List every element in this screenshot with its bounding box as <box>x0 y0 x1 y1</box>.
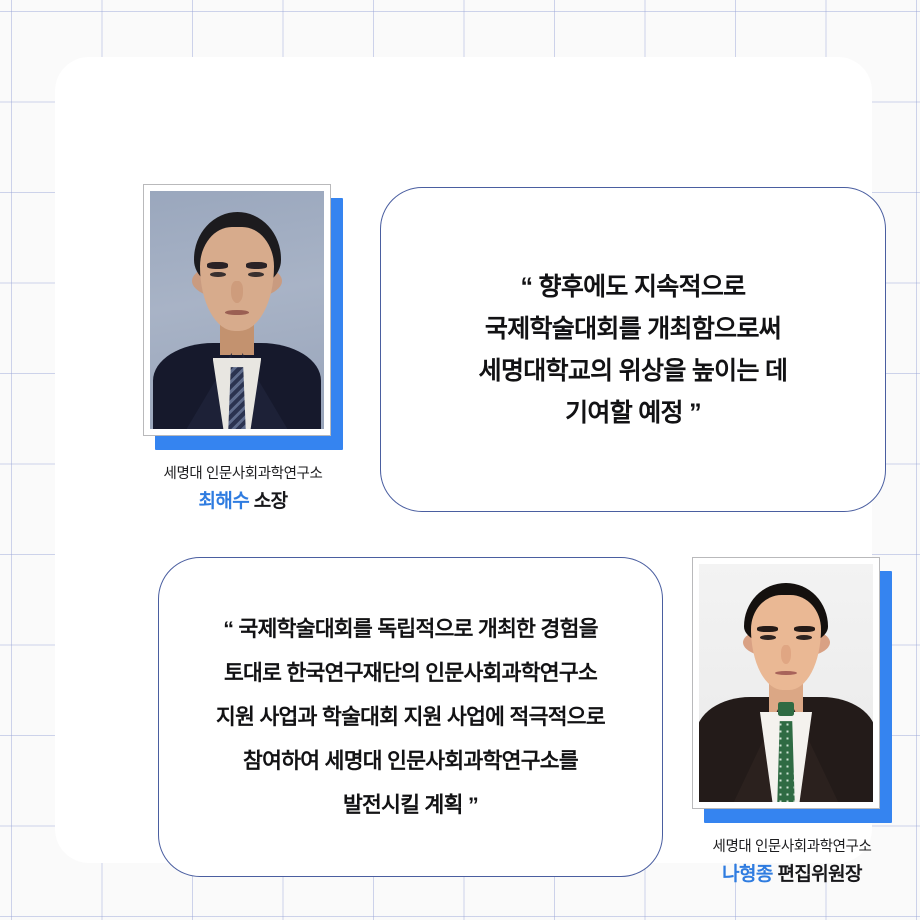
person-caption-na: 세명대 인문사회과학연구소 나형종 편집위원장 <box>692 838 892 886</box>
person-title: 소장 <box>254 491 288 512</box>
portrait-photo-na <box>699 564 873 802</box>
portrait-photo-choi <box>150 191 324 429</box>
person-name: 최해수 <box>198 491 249 512</box>
person-org: 세명대 인문사회과학연구소 <box>692 838 892 856</box>
portrait-illustration <box>699 564 873 802</box>
person-name-title: 나형종 편집위원장 <box>692 859 892 886</box>
person-org: 세명대 인문사회과학연구소 <box>143 465 343 483</box>
person-card-na: 세명대 인문사회과학연구소 나형종 편집위원장 <box>692 557 907 886</box>
photo-wrapper <box>143 184 343 452</box>
portrait-illustration <box>150 191 324 429</box>
person-name: 나형종 <box>722 864 773 885</box>
photo-frame <box>692 557 880 809</box>
person-name-title: 최해수 소장 <box>143 486 343 513</box>
page-background: 세명대 인문사회과학연구소 최해수 소장 “ 향후에도 지속적으로국제학술대회를… <box>0 0 920 920</box>
quote-bubble-na: “ 국제학술대회를 독립적으로 개최한 경험을토대로 한국연구재단의 인문사회과… <box>158 557 663 877</box>
photo-wrapper <box>692 557 892 825</box>
quote-text-na: “ 국제학술대회를 독립적으로 개최한 경험을토대로 한국연구재단의 인문사회과… <box>216 607 605 827</box>
photo-frame <box>143 184 331 436</box>
person-title: 편집위원장 <box>777 864 861 885</box>
person-card-choi: 세명대 인문사회과학연구소 최해수 소장 <box>143 184 358 513</box>
quote-bubble-choi: “ 향후에도 지속적으로국제학술대회를 개최함으로써세명대학교의 위상을 높이는… <box>380 187 886 512</box>
quote-text-choi: “ 향후에도 지속적으로국제학술대회를 개최함으로써세명대학교의 위상을 높이는… <box>479 266 788 434</box>
person-caption-choi: 세명대 인문사회과학연구소 최해수 소장 <box>143 465 343 513</box>
content-card: 세명대 인문사회과학연구소 최해수 소장 “ 향후에도 지속적으로국제학술대회를… <box>55 57 872 863</box>
